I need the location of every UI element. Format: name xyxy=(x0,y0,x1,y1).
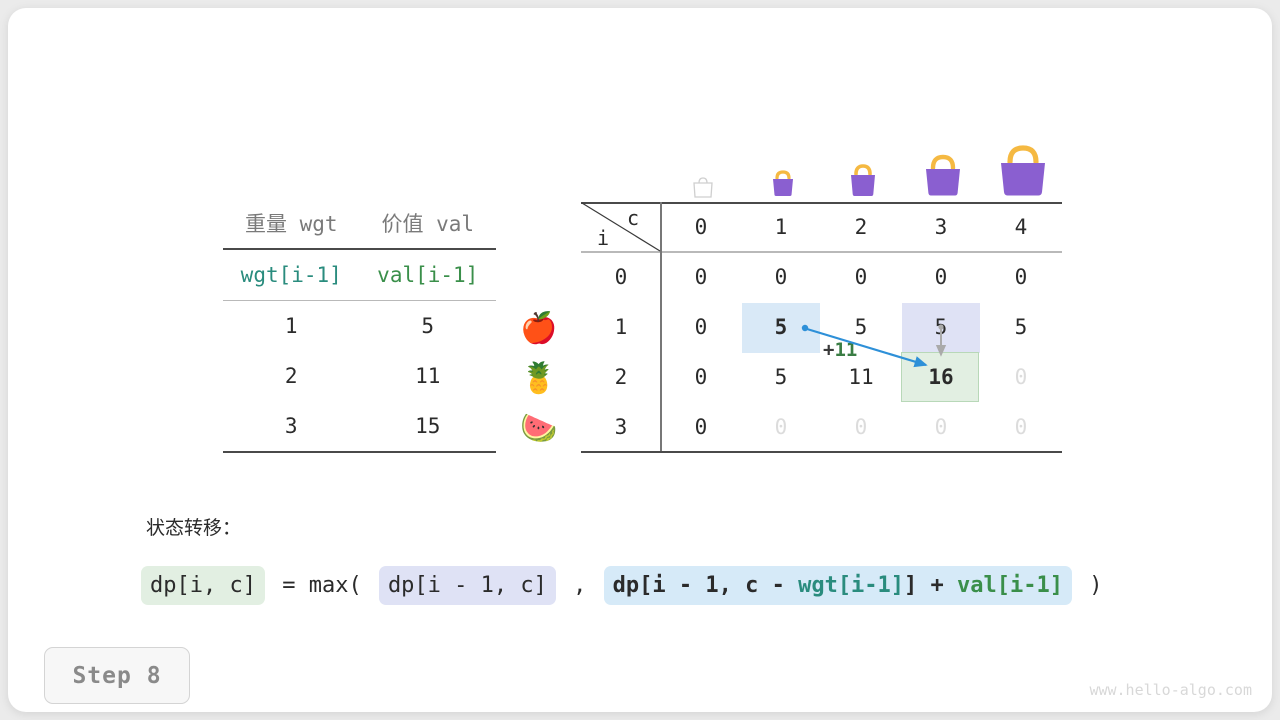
dp-cell-0-1: 0 xyxy=(741,252,821,302)
formula-part-skip: dp[i - 1, c] xyxy=(379,566,556,605)
dp-cell-1-4: 5 xyxy=(981,302,1061,352)
col-axis-label: c xyxy=(627,206,639,230)
dp-cell-3-2: 0 xyxy=(821,402,901,452)
dp-cell-0-4: 0 xyxy=(981,252,1061,302)
dp-row-header-0: 0 xyxy=(581,252,661,302)
dp-cell-2-1: 5 xyxy=(741,352,821,402)
item-table-header-val: 价值 val xyxy=(360,198,497,249)
item-3-value: 15 xyxy=(360,401,497,452)
apple-icon: 🍎 xyxy=(513,304,565,354)
dp-cell-0-3: 0 xyxy=(901,252,981,302)
row-axis-label: i xyxy=(597,226,609,250)
formula-part-comma: , xyxy=(556,573,604,598)
dp-col-header-0: 0 xyxy=(661,202,741,252)
slide-card: 重量 wgt 价值 val wgt[i-1] val[i-1] 1 5 2 11… xyxy=(8,8,1272,712)
dp-cell-0-2: 0 xyxy=(821,252,901,302)
dp-col-header-1: 1 xyxy=(741,202,821,252)
dp-cell-2-0: 0 xyxy=(661,352,741,402)
item-table-subheader-wgt: wgt[i-1] xyxy=(223,249,360,301)
value-gain-annotation: +11 xyxy=(823,339,857,361)
formula-part-target: dp[i, c] xyxy=(141,566,265,605)
bag-size-2-icon xyxy=(823,162,903,202)
dp-axis-labels: i c xyxy=(581,202,661,252)
item-table: 重量 wgt 价值 val wgt[i-1] val[i-1] 1 5 2 11… xyxy=(223,198,496,453)
table-row: 2 11 xyxy=(223,351,496,401)
dp-cell-3-1: 0 xyxy=(741,402,821,452)
dp-cell-3-0: 0 xyxy=(661,402,741,452)
dp-cell-1-3: 5 xyxy=(901,302,981,352)
dp-row-header-2: 2 xyxy=(581,352,661,402)
formula-take-text: dp[i - 1, c - wgt[i-1]] + val[i-1] xyxy=(613,573,1063,598)
dp-cell-2-3: 16 xyxy=(901,352,981,402)
dp-row-header-3: 3 xyxy=(581,402,661,452)
bag-size-1-icon xyxy=(743,168,823,202)
dp-col-header-3: 3 xyxy=(901,202,981,252)
dp-cell-1-0: 0 xyxy=(661,302,741,352)
bag-empty-icon xyxy=(663,174,743,202)
step-badge: Step 8 xyxy=(44,647,190,704)
table-row: 3 15 xyxy=(223,401,496,452)
item-table-subheader-val: val[i-1] xyxy=(360,249,497,301)
watermelon-icon: 🍉 xyxy=(513,404,565,454)
item-table-header-row: 重量 wgt 价值 val xyxy=(223,198,496,249)
state-transition-formula: dp[i, c] = max( dp[i - 1, c] , dp[i - 1,… xyxy=(141,566,1107,605)
dp-cell-3-4: 0 xyxy=(981,402,1061,452)
value-gain-number: 11 xyxy=(834,339,857,361)
dp-cell-0-0: 0 xyxy=(661,252,741,302)
footer-url: www.hello-algo.com xyxy=(1089,681,1252,699)
item-2-value: 11 xyxy=(360,351,497,401)
item-table-subheader-row: wgt[i-1] val[i-1] xyxy=(223,249,496,301)
pineapple-icon: 🍍 xyxy=(513,354,565,404)
dp-cell-1-1: 5 xyxy=(741,302,821,352)
item-3-weight: 3 xyxy=(223,401,360,452)
item-table-header-wgt: 重量 wgt xyxy=(223,198,360,249)
fruit-icon-column: 🍎 🍍 🍉 xyxy=(513,304,565,454)
bag-size-4-icon xyxy=(983,142,1063,202)
formula-part-max: = max( xyxy=(265,573,379,598)
capacity-bag-icons xyxy=(663,134,1063,202)
dp-table: i c 0 1 2 3 4 0 1 2 3 0 0 0 0 0 0 5 5 5 … xyxy=(581,202,1062,453)
dp-row-header-1: 1 xyxy=(581,302,661,352)
value-gain-prefix: + xyxy=(823,339,834,361)
table-row: 1 5 xyxy=(223,301,496,352)
item-1-value: 5 xyxy=(360,301,497,352)
bag-size-3-icon xyxy=(903,152,983,202)
formula-part-close: ) xyxy=(1072,573,1107,598)
state-transition-label: 状态转移： xyxy=(146,513,241,540)
dp-cell-3-3: 0 xyxy=(901,402,981,452)
item-2-weight: 2 xyxy=(223,351,360,401)
formula-part-take: dp[i - 1, c - wgt[i-1]] + val[i-1] xyxy=(604,566,1072,605)
dp-col-header-2: 2 xyxy=(821,202,901,252)
item-1-weight: 1 xyxy=(223,301,360,352)
dp-cell-2-4: 0 xyxy=(981,352,1061,402)
dp-col-header-4: 4 xyxy=(981,202,1061,252)
